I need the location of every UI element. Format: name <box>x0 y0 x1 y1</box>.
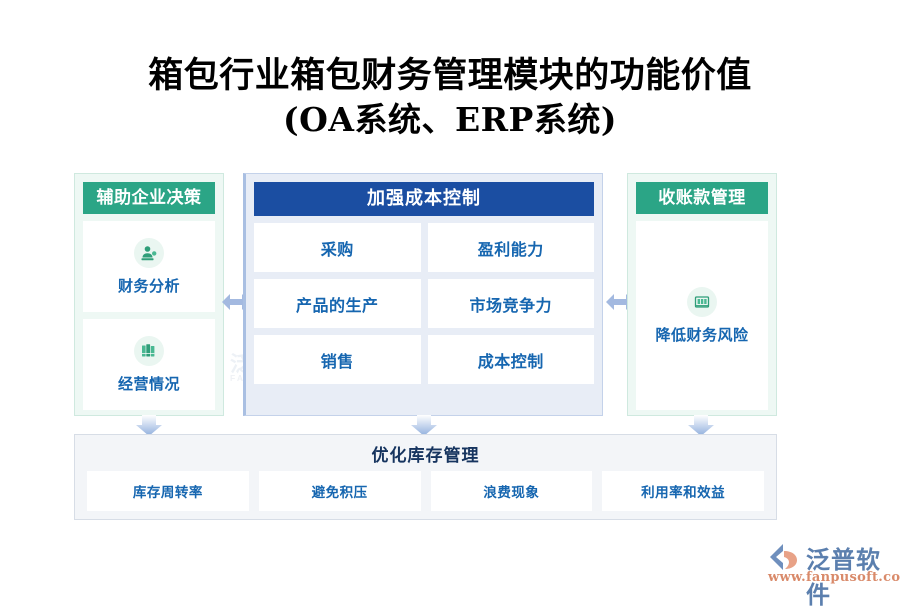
left-panel-card-financial-analysis[interactable]: 财务分析 <box>83 221 215 312</box>
page-title-line-1: 箱包行业箱包财务管理模块的功能价值 <box>0 54 900 99</box>
left-panel-card-label: 经营情况 <box>118 373 180 394</box>
right-panel-receivables-management: 收账款管理 降低财务风险 <box>627 173 777 416</box>
page-title: 箱包行业箱包财务管理模块的功能价值 (OA系统、ERP系统) <box>0 54 900 141</box>
slide-canvas: 箱包行业箱包财务管理模块的功能价值 (OA系统、ERP系统) 泛普软件 FANP… <box>0 0 900 600</box>
bank-building-icon <box>687 287 717 317</box>
left-panel-decision-support: 辅助企业决策 财务分析 经营情况 <box>74 173 224 416</box>
bottom-panel-cell[interactable]: 浪费现象 <box>431 471 593 511</box>
bottom-panel-cell[interactable]: 避免积压 <box>259 471 421 511</box>
center-panel-header: 加强成本控制 <box>254 182 594 216</box>
center-panel-cell[interactable]: 成本控制 <box>428 335 595 384</box>
bottom-panel-cell[interactable]: 库存周转率 <box>87 471 249 511</box>
bottom-panel-row: 库存周转率 避免积压 浪费现象 利用率和效益 <box>87 471 764 511</box>
center-panel-cost-control: 加强成本控制 采购 盈利能力 产品的生产 市场竞争力 销售 成本控制 <box>243 173 603 416</box>
center-panel-cell[interactable]: 销售 <box>254 335 421 384</box>
bottom-panel-cell[interactable]: 利用率和效益 <box>602 471 764 511</box>
bottom-panel-inventory-optimization: 优化库存管理 库存周转率 避免积压 浪费现象 利用率和效益 <box>74 434 777 520</box>
left-panel-header: 辅助企业决策 <box>83 182 215 214</box>
center-panel-grid: 采购 盈利能力 产品的生产 市场竞争力 销售 成本控制 <box>254 223 594 384</box>
brand-url: www.fanpusoft.com <box>768 570 900 585</box>
bottom-panel-title: 优化库存管理 <box>87 441 764 471</box>
page-title-line-2: (OA系统、ERP系统) <box>0 99 900 141</box>
brand-logo: 泛普软件 www.fanpusoft.com <box>768 540 894 590</box>
right-panel-card-label: 降低财务风险 <box>655 324 748 345</box>
left-panel-card-business-status[interactable]: 经营情况 <box>83 319 215 410</box>
center-panel-cell[interactable]: 采购 <box>254 223 421 272</box>
center-panel-cell[interactable]: 盈利能力 <box>428 223 595 272</box>
fanpu-logo-icon <box>768 542 802 572</box>
right-panel-header: 收账款管理 <box>636 182 768 214</box>
center-panel-cell[interactable]: 市场竞争力 <box>428 279 595 328</box>
user-stamp-icon <box>134 238 164 268</box>
right-panel-card-reduce-risk[interactable]: 降低财务风险 <box>636 221 768 410</box>
archive-books-icon <box>134 336 164 366</box>
center-panel-cell[interactable]: 产品的生产 <box>254 279 421 328</box>
left-panel-card-label: 财务分析 <box>118 275 180 296</box>
